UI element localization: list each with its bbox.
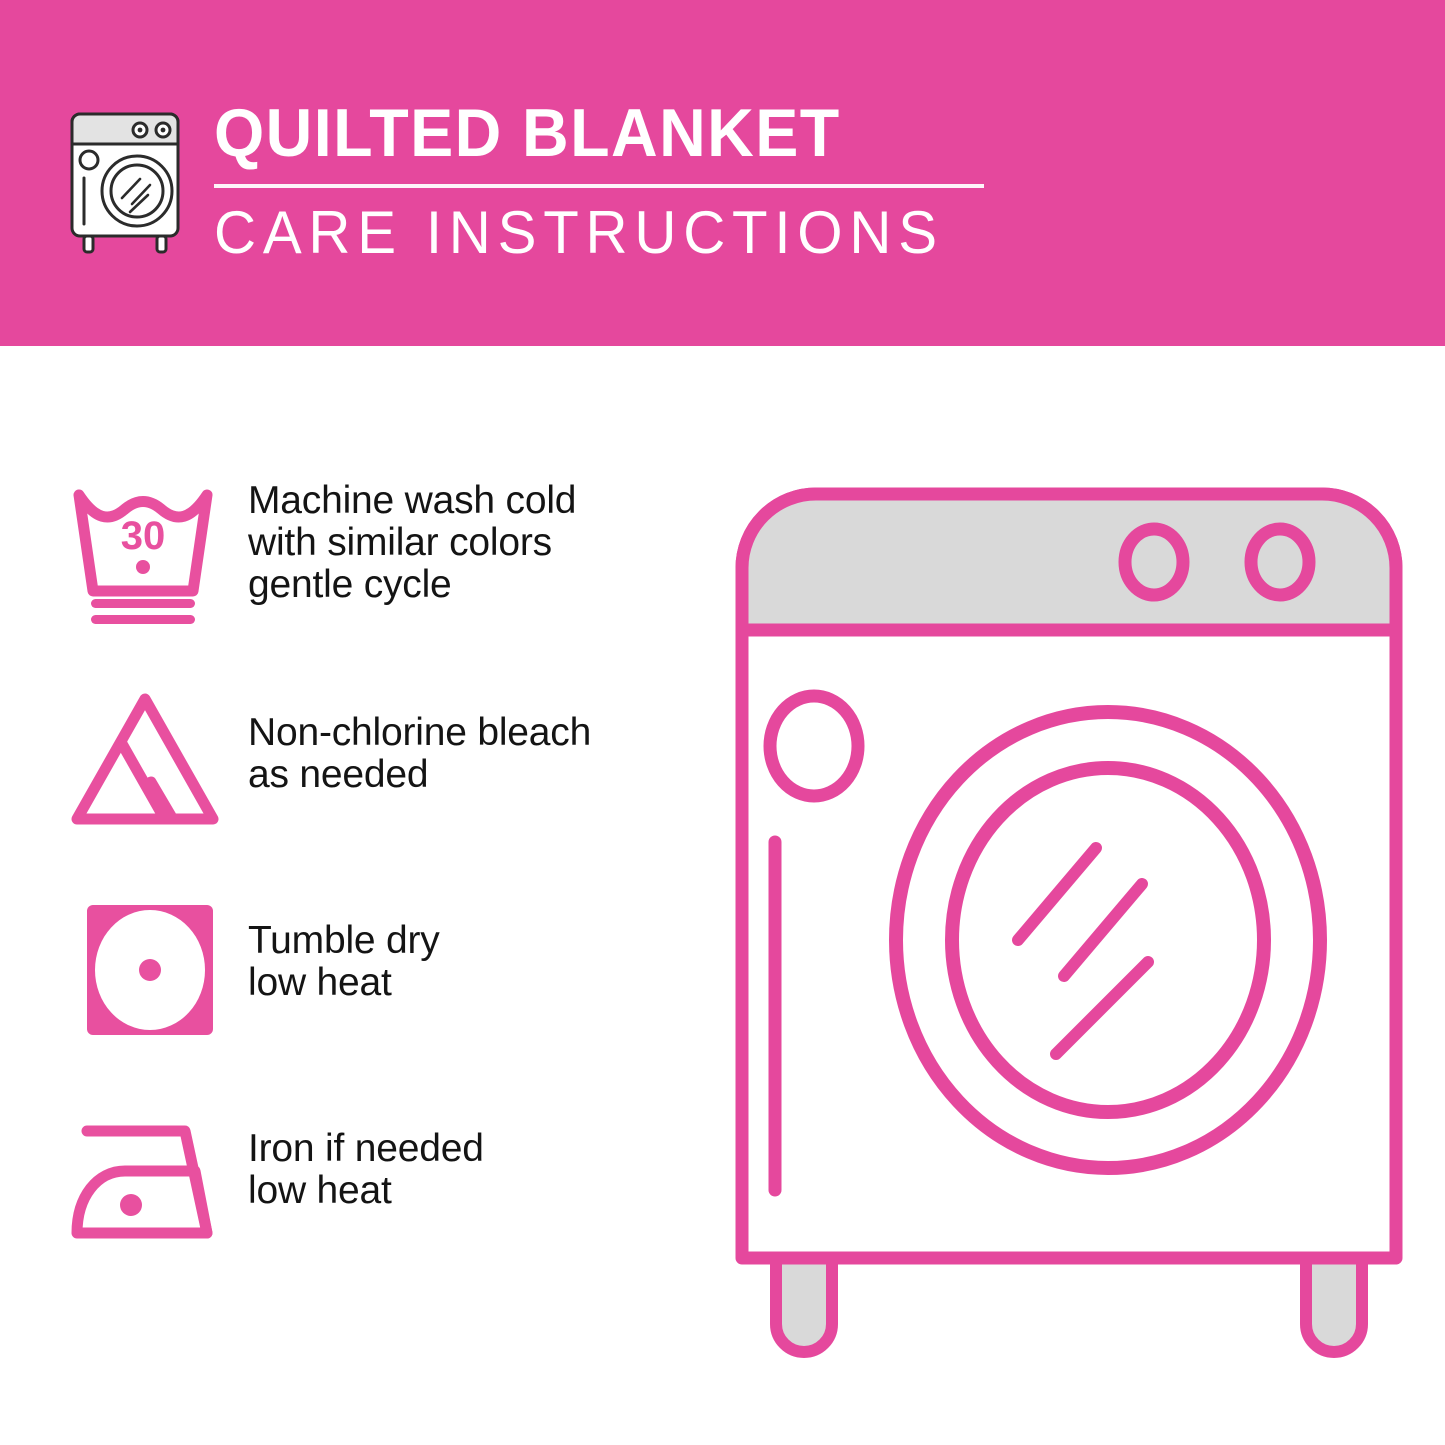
- wash-basin-30-gentle-icon: 30: [60, 470, 230, 630]
- care-item-text: Tumble dry low heat: [248, 890, 700, 1004]
- care-text-line: Tumble dry: [248, 920, 700, 962]
- drum-door-inner: [952, 768, 1264, 1112]
- triangle-non-chlorine-bleach-icon: [60, 680, 230, 840]
- header-titles: QUILTED BLANKET CARE INSTRUCTIONS: [214, 96, 984, 266]
- leg-right: [1306, 1256, 1362, 1352]
- svg-text:30: 30: [121, 514, 166, 558]
- care-instruction-list: 30 Machine wash cold with similar colors…: [60, 470, 700, 1310]
- leg-left: [776, 1256, 832, 1352]
- title-divider: [214, 184, 984, 188]
- care-item-bleach: Non-chlorine bleach as needed: [60, 680, 700, 890]
- care-text-line: Non-chlorine bleach: [248, 712, 700, 754]
- care-text-line: as needed: [248, 754, 700, 796]
- care-text-line: Machine wash cold: [248, 480, 700, 522]
- header-band: QUILTED BLANKET CARE INSTRUCTIONS: [0, 0, 1445, 346]
- washing-machine-icon: [60, 100, 190, 260]
- care-text-line: gentle cycle: [248, 564, 700, 606]
- knob-right: [1251, 529, 1309, 595]
- detergent-indicator-circle: [770, 696, 858, 796]
- tumble-dry-low-heat-icon: [60, 890, 230, 1050]
- care-text-line: Iron if needed: [248, 1128, 700, 1170]
- care-instructions-infographic: QUILTED BLANKET CARE INSTRUCTIONS 30: [0, 0, 1445, 1445]
- care-text-line: low heat: [248, 962, 700, 1004]
- page-subtitle: CARE INSTRUCTIONS: [214, 200, 961, 266]
- care-text-line: with similar colors: [248, 522, 700, 564]
- iron-low-heat-icon: [60, 1100, 230, 1260]
- care-item-text: Machine wash cold with similar colors ge…: [248, 470, 700, 606]
- care-item-tumble-dry: Tumble dry low heat: [60, 890, 700, 1100]
- care-item-iron: Iron if needed low heat: [60, 1100, 700, 1310]
- page-title: QUILTED BLANKET: [214, 96, 946, 170]
- care-item-text: Iron if needed low heat: [248, 1100, 700, 1212]
- front-load-washing-machine-illustration: [718, 470, 1418, 1370]
- knob-left: [1125, 529, 1183, 595]
- care-item-machine-wash: 30 Machine wash cold with similar colors…: [60, 470, 700, 680]
- care-text-line: low heat: [248, 1170, 700, 1212]
- header-content: QUILTED BLANKET CARE INSTRUCTIONS: [60, 96, 984, 266]
- care-item-text: Non-chlorine bleach as needed: [248, 680, 700, 796]
